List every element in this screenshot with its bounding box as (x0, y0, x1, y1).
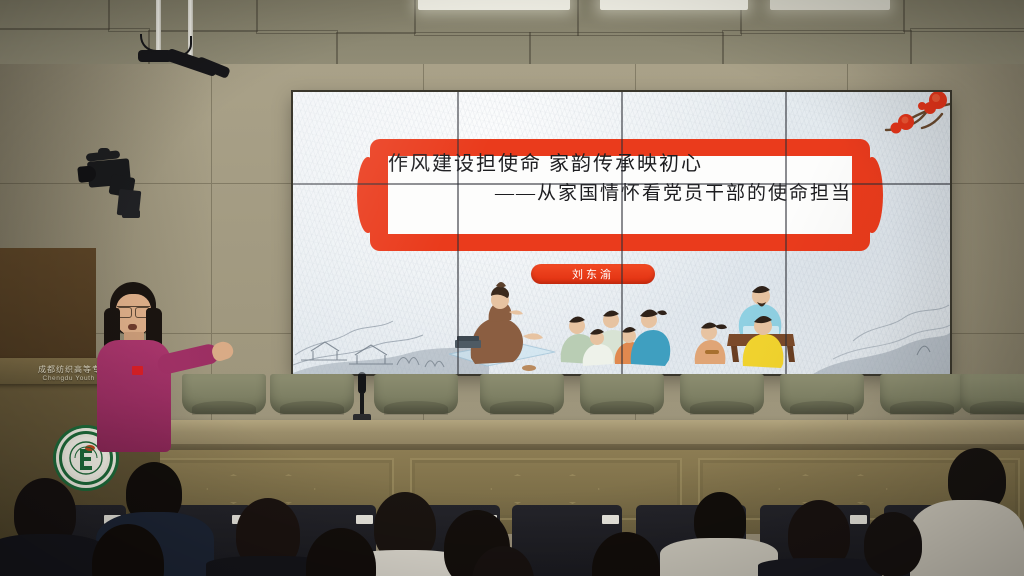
scholars-illustration (443, 276, 803, 372)
audience-head (864, 512, 922, 576)
stage-chair (270, 374, 354, 414)
presenter-person (92, 282, 217, 452)
chair-label-tag (850, 515, 867, 524)
chair-label-tag (602, 515, 619, 524)
ceiling-light-panel (600, 0, 748, 10)
table-microphone (352, 372, 372, 422)
stage-chair (780, 374, 864, 414)
stage-chair (680, 374, 764, 414)
stage-chair (580, 374, 664, 414)
ceiling-light-panel (418, 0, 570, 10)
ceiling-light-panel (770, 0, 890, 10)
stage-chair-row (180, 374, 1024, 420)
display-bezel-horizontal (293, 183, 950, 185)
presenter-badge-pin (132, 366, 143, 375)
display-bezel-vertical (457, 92, 459, 374)
stage-chair (480, 374, 564, 414)
video-wall-display[interactable]: 作风建设担使命 家韵传承映初心 ——从家国情怀看党员干部的使命担当 刘东渝 (293, 92, 950, 374)
video-camera-icon (78, 150, 148, 222)
lecture-hall-screenshot: 作风建设担使命 家韵传承映初心 ——从家国情怀看党员干部的使命担当 刘东渝 (0, 0, 1024, 576)
display-bezel-vertical (785, 92, 787, 374)
audience-shoulders (758, 558, 882, 576)
stage-chair (880, 374, 964, 414)
presenter-name-badge: 刘东渝 (531, 264, 655, 284)
presenter-mouth (128, 324, 137, 330)
audience-shoulders (910, 500, 1024, 576)
stage-chair (374, 374, 458, 414)
stage-chair (960, 374, 1024, 414)
display-bezel-vertical (621, 92, 623, 374)
chair-label-tag (356, 515, 373, 524)
